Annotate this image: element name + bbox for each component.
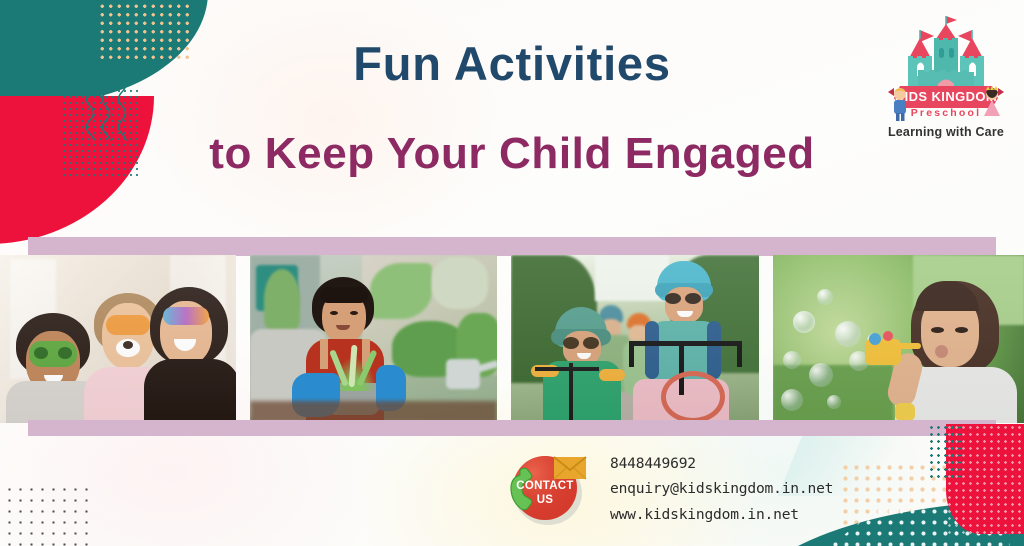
photo-gardening-girl — [250, 255, 498, 423]
headline-line-1: Fun Activities — [0, 40, 1024, 87]
contact-badge-line-1: CONTACT — [516, 480, 573, 492]
poster-canvas: Fun Activities to Keep Your Child Engage… — [0, 0, 1024, 546]
contact-website[interactable]: www.kidskingdom.in.net — [610, 502, 833, 527]
top-left-teal-dot-grid-corner — [96, 0, 156, 22]
headline-block: Fun Activities to Keep Your Child Engage… — [0, 40, 1024, 176]
photo-face-painting-kids — [0, 255, 236, 423]
logo-banner-text: KIDS KINGDOM — [895, 89, 997, 104]
envelope-icon — [554, 457, 586, 479]
bottom-left-dot-grid — [4, 484, 88, 546]
photo-bubble-blowing-girl — [773, 255, 1024, 423]
contact-badge-icon: CONTACT US — [500, 447, 592, 531]
contact-badge-line-2: US — [537, 494, 554, 506]
photo-cycling-kids — [511, 255, 759, 423]
contact-phone[interactable]: 8448449692 — [610, 451, 833, 476]
castle-logo-icon: KIDS KINGDOM Preschool — [876, 12, 1016, 124]
brand-logo[interactable]: KIDS KINGDOM Preschool Learning with Car… — [876, 12, 1016, 172]
logo-tagline: Learning with Care — [876, 125, 1016, 139]
contact-us-badge[interactable]: CONTACT US — [500, 447, 592, 531]
contact-email[interactable]: enquiry@kidskingdom.in.net — [610, 476, 833, 501]
photo-strip — [0, 255, 1024, 423]
contact-block: CONTACT US 8448449692 enquiry@kidskingdo… — [500, 447, 833, 531]
contact-details: 8448449692 enquiry@kidskingdom.in.net ww… — [610, 451, 833, 526]
bottom-right-white-dot-grid — [830, 506, 1010, 546]
boy-mascot-icon — [894, 88, 906, 121]
logo-sub-text: Preschool — [911, 107, 982, 119]
photo-strip-bottom-band — [28, 420, 996, 436]
bottom-right-red-shape — [946, 424, 1024, 534]
headline-line-2: to Keep Your Child Engaged — [0, 132, 1024, 176]
bottom-right-orange-dot-grid — [840, 462, 1012, 546]
bottom-right-red-dot-texture — [946, 424, 1024, 534]
photo-strip-top-band — [28, 237, 996, 256]
